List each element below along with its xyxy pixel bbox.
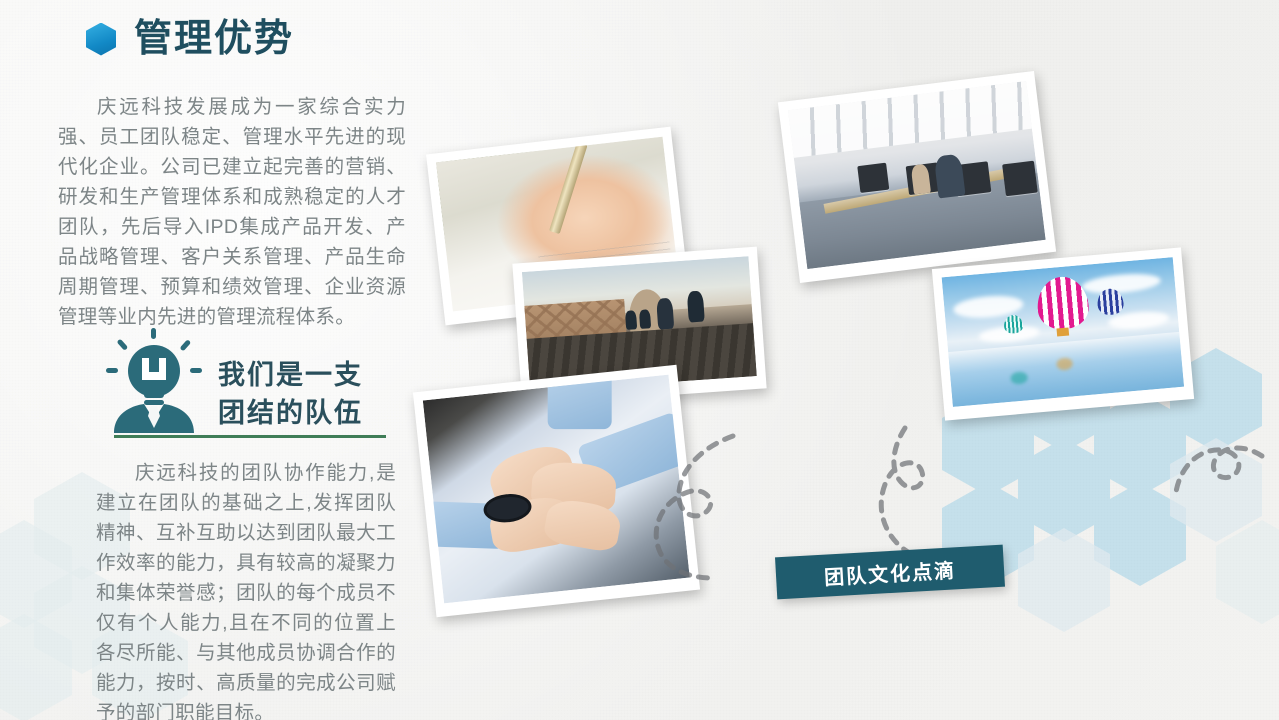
dashed-arrow-2 [881,428,966,560]
page-title: 管理优势 [86,20,294,58]
intro-paragraph: 庆远科技发展成为一家综合实力强、员工团队稳定、管理水平先进的现代化企业。公司已建… [58,92,406,332]
team-heading-underline [114,435,386,438]
page-title-text: 管理优势 [134,20,294,58]
slide-canvas: 管理优势 庆远科技发展成为一家综合实力强、员工团队稳定、管理水平先进的现代化企业… [0,0,1279,720]
hexagon-decor [1018,528,1110,632]
photo-team-hands[interactable] [413,365,700,617]
team-heading-text: 我们是一支 团结的队伍 [218,356,363,432]
photo-office-workstations[interactable] [778,71,1056,283]
hexagon-decor [0,614,72,720]
team-culture-banner[interactable]: 团队文化点滴 [775,545,1005,600]
hexagon-decor [1094,392,1186,496]
team-culture-banner-label: 团队文化点滴 [823,554,956,590]
hexagon-decor [0,520,72,628]
hexagon-decor [1018,438,1110,542]
hexagon-icon [86,23,116,56]
photo-hot-air-balloons[interactable] [932,247,1194,420]
dashed-arrow-3 [1176,448,1262,492]
hexagon-decor [1094,482,1186,586]
lightbulb-head-person-icon [104,328,204,433]
hexagon-decor [1170,438,1262,542]
hexagon-decor [1216,520,1279,624]
teamwork-paragraph: 庆远科技的团队协作能力,是建立在团队的基础之上,发挥团队精神、互补互助以达到团队… [96,458,396,720]
